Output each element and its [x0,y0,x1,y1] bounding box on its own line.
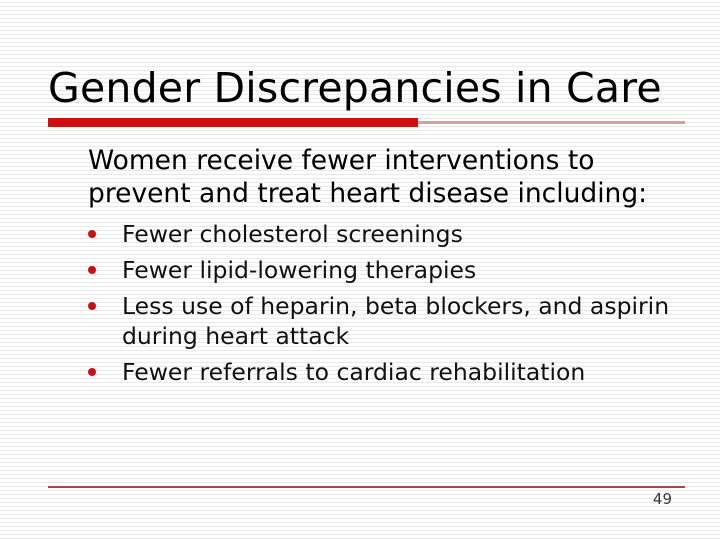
title-block: Gender Discrepancies in Care [48,62,688,118]
list-item-label: Fewer lipid-lowering therapies [122,255,688,285]
list-item-label: Fewer cholesterol screenings [122,219,688,249]
list-item: Fewer referrals to cardiac rehabilitatio… [88,357,688,387]
list-item: Less use of heparin, beta blockers, and … [88,291,688,351]
lead-paragraph: Women receive fewer interventions to pre… [88,144,678,210]
bullet-dot-icon [88,230,96,238]
title-divider-accent-bar [48,118,418,127]
list-item: Fewer cholesterol screenings [88,219,688,249]
bullet-dot-icon [88,368,96,376]
slide-body: Women receive fewer interventions to pre… [88,144,688,393]
title-divider [48,118,685,127]
bullet-dot-icon [88,266,96,274]
bullet-dot-icon [88,302,96,310]
list-item-label: Fewer referrals to cardiac rehabilitatio… [122,357,688,387]
page-number: 49 [600,490,672,508]
page-title: Gender Discrepancies in Care [48,62,688,114]
footer-divider [48,486,685,488]
bullet-list: Fewer cholesterol screenings Fewer lipid… [88,219,688,387]
list-item-label: Less use of heparin, beta blockers, and … [122,291,688,351]
title-divider-thin-line [418,121,685,124]
slide-canvas: Gender Discrepancies in Care Women recei… [0,0,720,540]
list-item: Fewer lipid-lowering therapies [88,255,688,285]
